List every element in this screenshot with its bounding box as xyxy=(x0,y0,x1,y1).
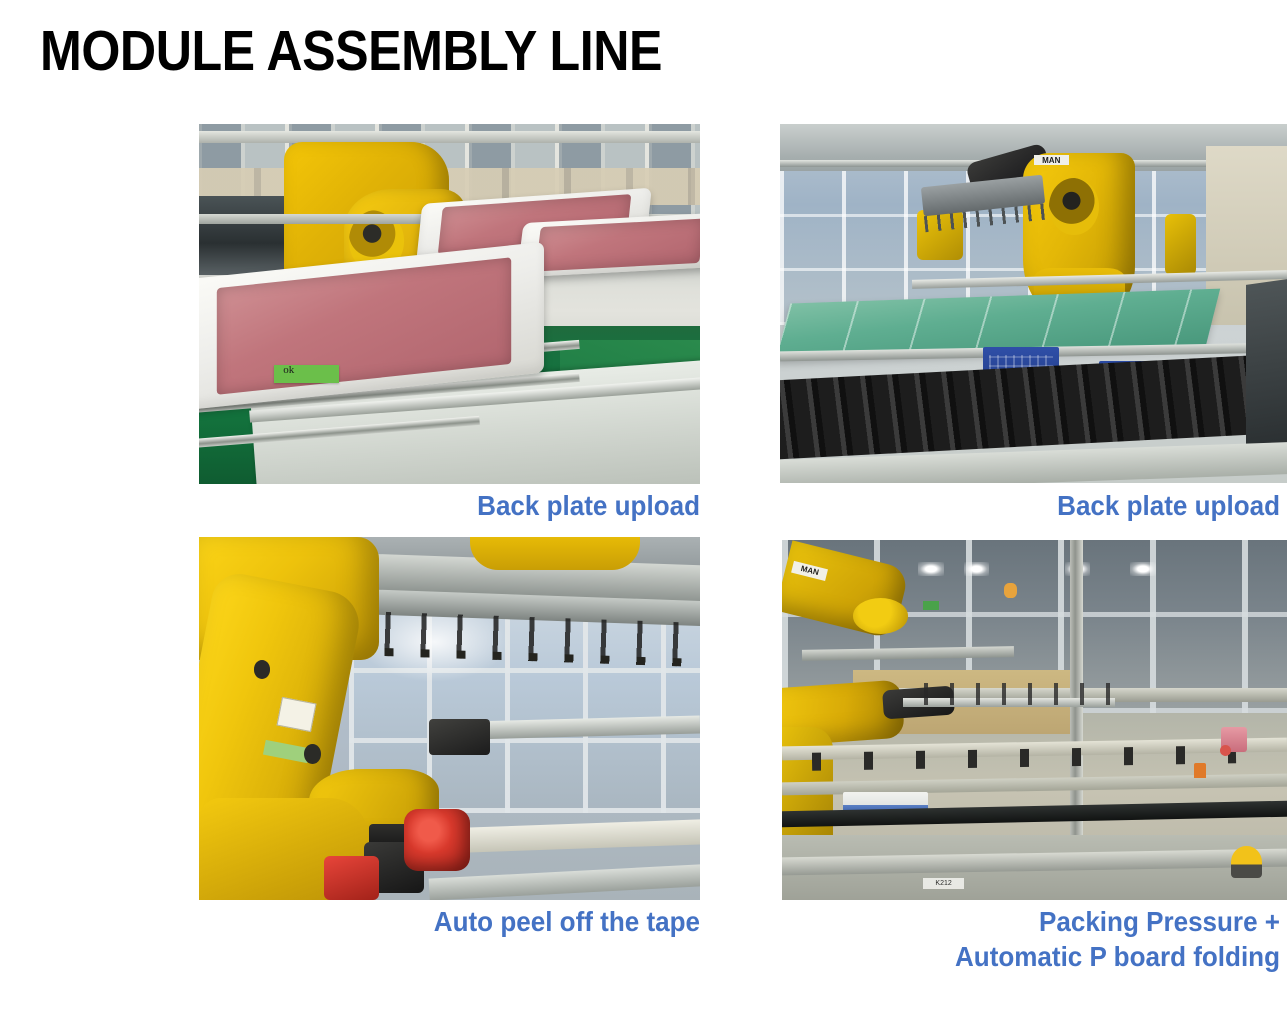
pink-foam-pad xyxy=(535,218,700,271)
photo-back-plate-upload-1: ok xyxy=(199,124,700,484)
caption-back-plate-upload-1: Back plate upload xyxy=(328,489,700,523)
ceiling-rail xyxy=(199,131,700,143)
arm-bolt-lower xyxy=(304,744,321,764)
ceiling-lamp-4 xyxy=(1130,562,1155,576)
robot-upper-housing xyxy=(470,537,640,570)
photo-packing-pressure-folding: MAN K212 xyxy=(782,540,1287,900)
photo-3-scene xyxy=(199,537,700,900)
caption-back-plate-upload-2: Back plate upload xyxy=(908,489,1280,523)
ceiling-lamp-1 xyxy=(918,562,943,576)
page-title: MODULE ASSEMBLY LINE xyxy=(40,22,662,82)
photo-2-scene: MAN xyxy=(780,124,1287,483)
photo-auto-peel-off-tape xyxy=(199,537,700,900)
robot-wrist-joint xyxy=(853,598,909,634)
arm-bolt-upper xyxy=(254,660,270,678)
caption-packing-pressure-line1: Packing Pressure + xyxy=(889,905,1280,939)
pink-foam-pad xyxy=(217,257,511,395)
station-code-text: K212 xyxy=(923,878,963,889)
foam-tray-far-2 xyxy=(516,212,700,277)
orange-cone xyxy=(1194,763,1206,777)
orange-object-background xyxy=(1004,583,1017,597)
caption-auto-peel-off-tape: Auto peel off the tape xyxy=(328,905,700,939)
green-sign-background xyxy=(923,601,938,610)
secondary-actuator xyxy=(429,719,489,755)
robot-brand-label: MAN xyxy=(1034,155,1069,166)
robot-brand-text: MAN xyxy=(1034,155,1069,166)
caption-packing-pressure-line2: Automatic P board folding xyxy=(889,940,1280,974)
dark-side-panel xyxy=(1246,279,1287,450)
red-motor-unit xyxy=(404,809,469,871)
ok-sticker-text: ok xyxy=(283,364,294,376)
photo-4-scene: MAN K212 xyxy=(782,540,1287,900)
folding-tool-bar xyxy=(903,698,1115,707)
red-valve-unit xyxy=(324,856,379,900)
secondary-robot-right xyxy=(1165,214,1195,275)
photo-back-plate-upload-2: MAN xyxy=(780,124,1287,483)
photo-1-scene: ok xyxy=(199,124,700,484)
ok-sticker: ok xyxy=(274,365,339,383)
yellow-beacon-light xyxy=(1231,846,1261,878)
station-code-label: K212 xyxy=(923,878,963,889)
ceiling-lamp-2 xyxy=(964,562,989,576)
